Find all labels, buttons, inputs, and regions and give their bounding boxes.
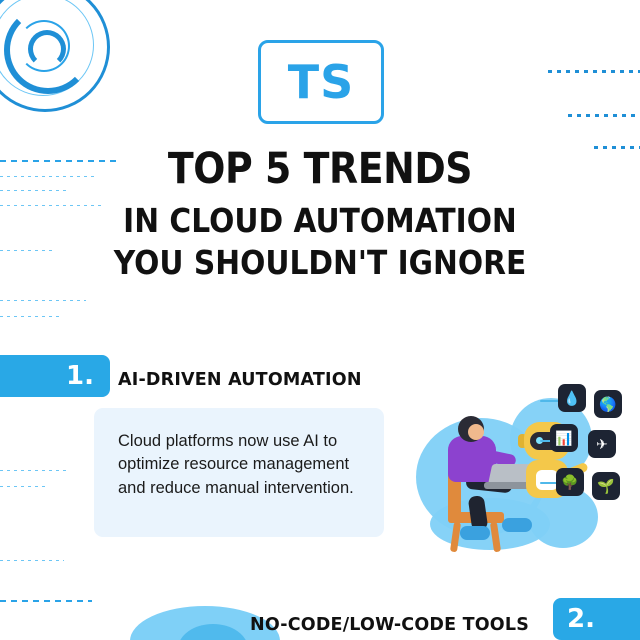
tech-circle-decoration: [0, 0, 160, 164]
decorative-dot-line: [548, 70, 640, 73]
leaf-icon: 🌱: [592, 472, 620, 500]
chart-icon: 📊: [550, 424, 578, 452]
decorative-dash-line: [0, 486, 48, 487]
headline-line-1: TOP 5 TRENDS: [38, 148, 601, 192]
item-1-title: AI-DRIVEN AUTOMATION: [118, 370, 362, 390]
logo-badge: TS: [258, 40, 384, 124]
globe-icon: 🌎: [594, 390, 622, 418]
logo-text: TS: [288, 59, 355, 105]
item-2-number-badge: 2.: [553, 598, 640, 640]
infographic-page: TS TOP 5 TRENDS IN CLOUD AUTOMATION YOU …: [0, 0, 640, 640]
decorative-dash-line: [0, 470, 70, 471]
item-1-number: 1.: [66, 361, 94, 391]
headline-block: TOP 5 TRENDS IN CLOUD AUTOMATION YOU SHO…: [0, 148, 640, 284]
decorative-ring: [28, 30, 66, 68]
airplane-icon: ✈: [588, 430, 616, 458]
item-2-number: 2.: [567, 604, 595, 634]
tree-icon: 🌳: [556, 468, 584, 496]
illustration: 💧 🌎 📊 ✈ 🌳 🌱: [410, 378, 620, 568]
item-2-title: NO-CODE/LOW-CODE TOOLS: [250, 615, 529, 635]
decorative-dash-line: [0, 560, 64, 561]
decorative-dash-line: [0, 300, 86, 301]
headline-line-3: YOU SHOULDN'T IGNORE: [32, 242, 608, 284]
droplet-icon: 💧: [558, 384, 586, 412]
headline-line-2: IN CLOUD AUTOMATION: [32, 200, 608, 242]
icon-tiles-group: 💧 🌎 📊 ✈ 🌳 🌱: [540, 384, 620, 524]
item-1-number-badge: 1.: [0, 355, 110, 397]
item-1-body: Cloud platforms now use AI to optimize r…: [118, 430, 370, 500]
item-1-card: Cloud platforms now use AI to optimize r…: [94, 408, 384, 537]
decorative-dash-line: [0, 600, 92, 602]
decorative-dash-line: [0, 316, 60, 317]
decorative-dot-line: [568, 114, 640, 117]
